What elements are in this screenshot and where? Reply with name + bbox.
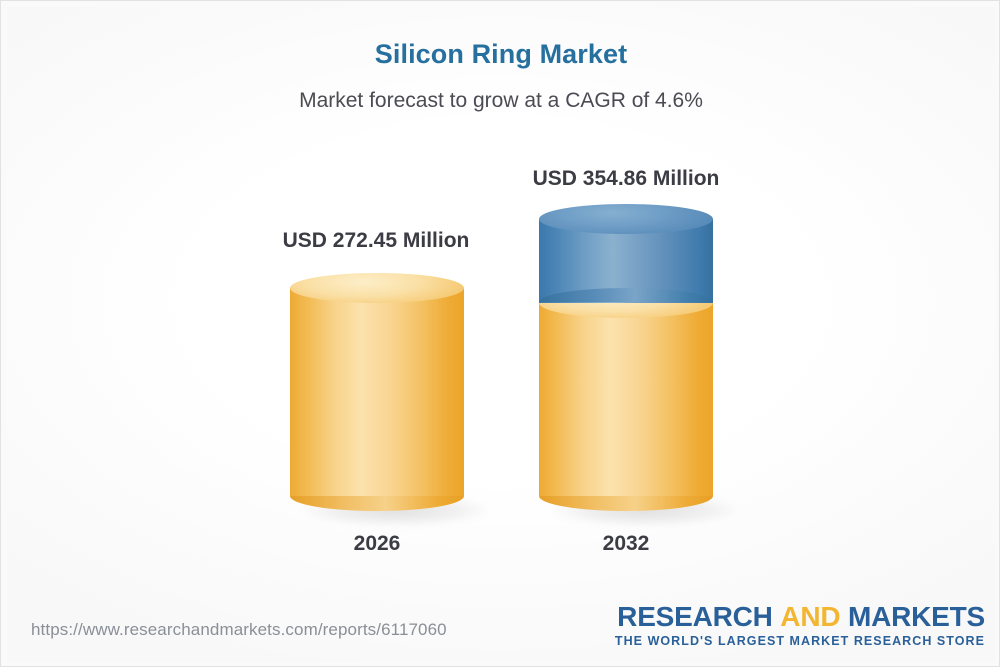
chart-figure: Silicon Ring Market Market forecast to g… [0,0,1000,667]
cylinder-2032 [539,204,713,511]
logo-wordmark: RESEARCH AND MARKETS [615,602,985,631]
source-url[interactable]: https://www.researchandmarkets.com/repor… [31,620,447,640]
bar-value-label-2032: USD 354.86 Million [456,167,796,191]
logo-tagline: THE WORLD'S LARGEST MARKET RESEARCH STOR… [615,634,985,648]
research-and-markets-logo[interactable]: RESEARCH AND MARKETS THE WORLD'S LARGEST… [615,602,985,648]
cylinder-segment-base-2032 [539,303,713,496]
cylinder-body-2026 [290,288,464,496]
logo-word-and: AND [780,601,840,632]
logo-word-markets: MARKETS [848,601,985,632]
cylinder-top-2026 [290,273,464,303]
cylinder-2026 [290,273,464,511]
cylinder-top-2032 [539,204,713,234]
bar-value-label-2026: USD 272.45 Million [206,229,546,253]
bar-category-label-2032: 2032 [456,532,796,556]
logo-word-research: RESEARCH [617,601,773,632]
chart-plot-area: USD 272.45 Million 2026 USD 354.86 Milli… [1,1,1000,667]
